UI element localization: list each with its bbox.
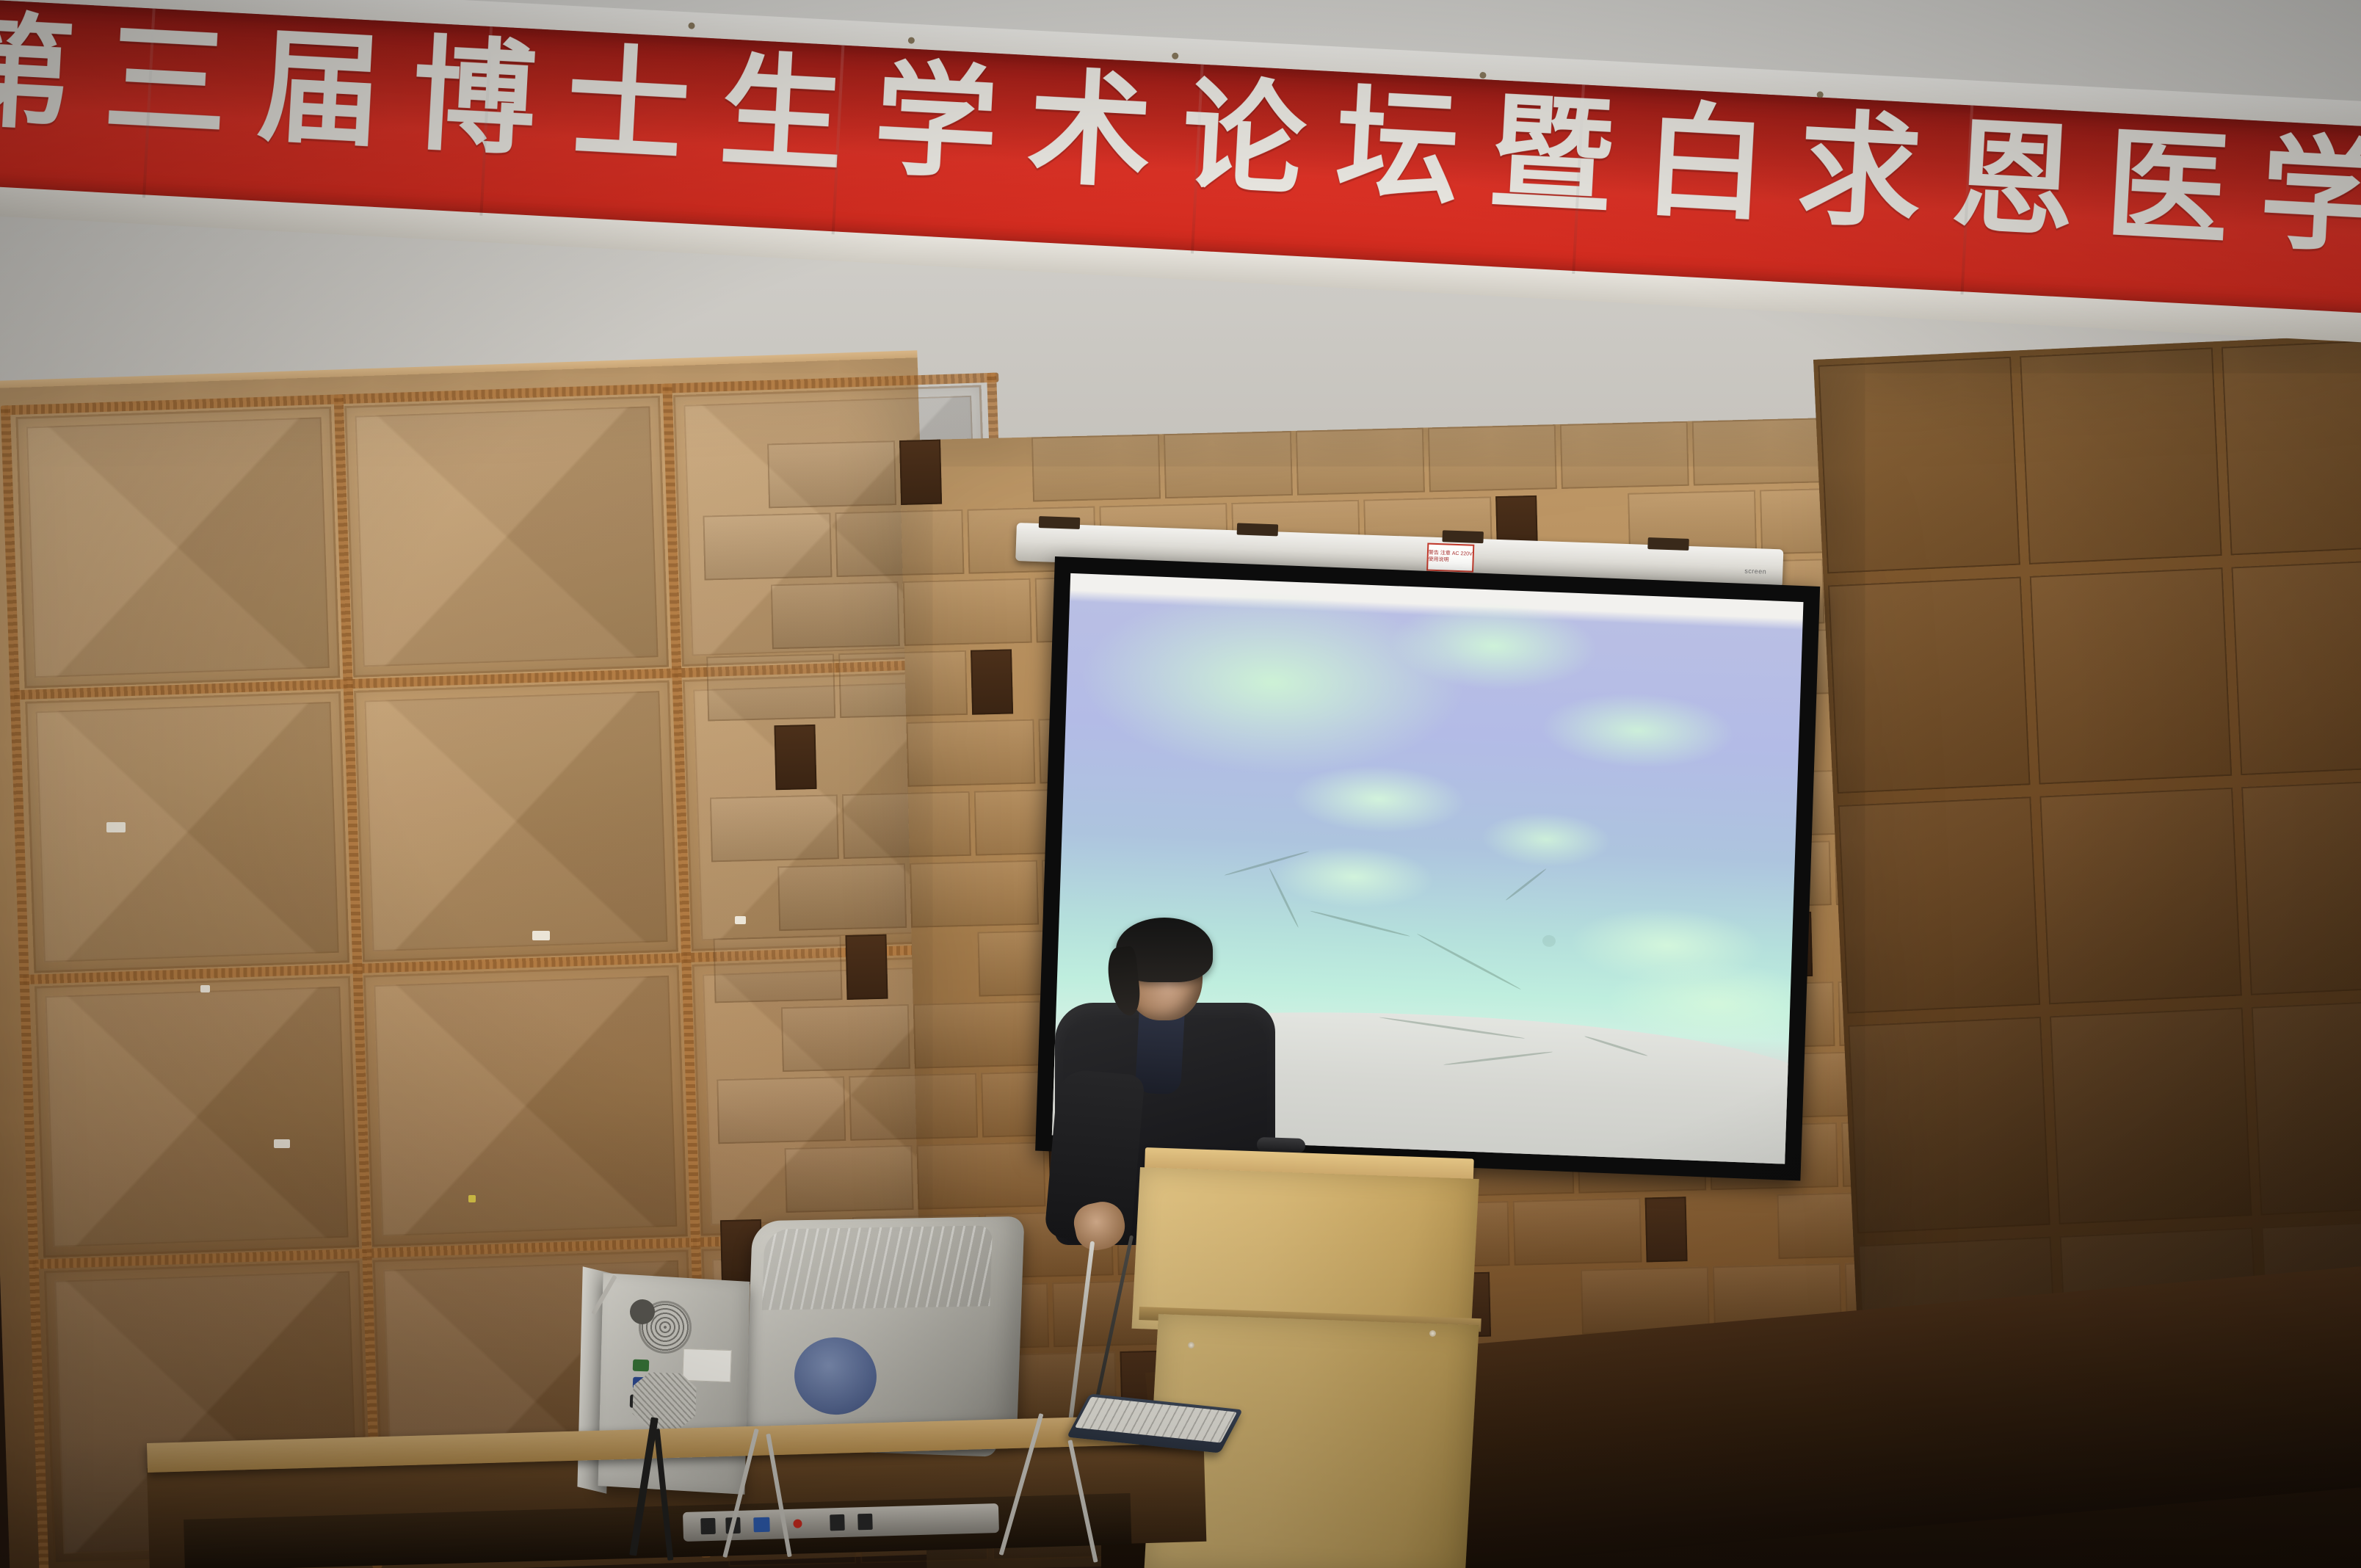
screen-scratch [1310, 910, 1410, 937]
power-socket [700, 1518, 716, 1535]
screen-brand-label: screen [1744, 567, 1766, 576]
wall-brick [1581, 1266, 1710, 1334]
wall-brick [777, 863, 907, 931]
wall-speck [274, 1139, 290, 1148]
wall-brick-dark [845, 934, 888, 1000]
wall-brick [717, 1076, 846, 1144]
screen-scratch [1224, 850, 1309, 876]
tower-spec-sticker [682, 1349, 731, 1382]
wall-panel-right [2222, 338, 2361, 556]
housing-bracket [1237, 523, 1279, 536]
screen-spot [1542, 935, 1556, 948]
warning-label: 警告 注意 AC 220V 使用说明 [1426, 543, 1474, 573]
podium-screw [1188, 1342, 1194, 1349]
power-indicator [793, 1519, 802, 1528]
wall-panel [35, 976, 359, 1257]
wall-brick [1164, 431, 1293, 498]
tower-port-audio-green [633, 1360, 650, 1372]
podium-screw [1429, 1330, 1436, 1337]
wall-brick [785, 1145, 914, 1213]
wall-panel-right [1838, 796, 2041, 1014]
wall-speck-yellow [468, 1195, 476, 1202]
power-socket [830, 1514, 845, 1531]
wall-brick [1296, 428, 1425, 496]
wall-brick [1031, 434, 1161, 501]
wall-panel-right [2030, 567, 2233, 785]
wall-panel-right [2050, 1007, 2252, 1224]
wall-panel-right [2241, 778, 2361, 995]
power-socket [857, 1514, 873, 1531]
screen-scratch [1268, 868, 1299, 928]
wall-brick-dark [1645, 1197, 1688, 1262]
housing-bracket [1039, 516, 1081, 529]
wall-panel [354, 680, 678, 962]
wall-brick [703, 512, 832, 580]
wall-brick [906, 719, 1035, 787]
wall-brick [842, 791, 971, 859]
wall-brick [767, 440, 896, 508]
wall-brick [913, 1001, 1042, 1069]
wall-panel-right [2252, 998, 2361, 1216]
wall-brick [781, 1004, 910, 1072]
wall-panel-right [1828, 576, 2031, 794]
wall-brick [713, 935, 842, 1003]
wall-panel-right [2020, 347, 2222, 565]
wall-panel [344, 396, 669, 678]
wall-speck [106, 822, 126, 832]
power-socket-blue [753, 1517, 770, 1533]
tower-psu-grill [632, 1372, 697, 1430]
wall-speck [532, 931, 550, 940]
wall-brick [835, 509, 964, 577]
wall-speck [735, 916, 746, 924]
wall-brick [710, 794, 839, 862]
wall-panel-right [1818, 357, 2020, 574]
housing-bracket [1647, 537, 1689, 551]
wall-brick [849, 1073, 978, 1141]
monitor-vent [762, 1225, 993, 1310]
wall-panel-right [2039, 788, 2242, 1005]
wall-brick [706, 653, 835, 721]
wall-brick [1560, 421, 1689, 489]
screen-scratch [1505, 868, 1547, 901]
wall-speck [200, 985, 210, 992]
wall-brick [1692, 418, 1821, 485]
wall-brick [1428, 424, 1557, 492]
wall-brick [838, 650, 968, 718]
wall-brick-dark [899, 440, 942, 505]
wall-brick-dark [774, 725, 816, 790]
wall-brick [771, 581, 900, 649]
housing-bracket [1442, 530, 1484, 543]
wall-panel [25, 692, 349, 973]
wall-panel [363, 965, 688, 1246]
wall-brick [910, 860, 1039, 928]
wall-panel [15, 407, 340, 689]
wall-panel-right [1848, 1017, 2050, 1234]
wall-brick-dark [971, 649, 1013, 714]
wall-brick [1513, 1198, 1642, 1266]
wall-brick [916, 1141, 1045, 1209]
wall-brick [903, 578, 1032, 646]
wall-panel-right [2231, 559, 2361, 776]
photo-scene: 警告 注意 AC 220V 使用说明 screen [0, 0, 2361, 1568]
screen-scratch [1416, 932, 1521, 990]
